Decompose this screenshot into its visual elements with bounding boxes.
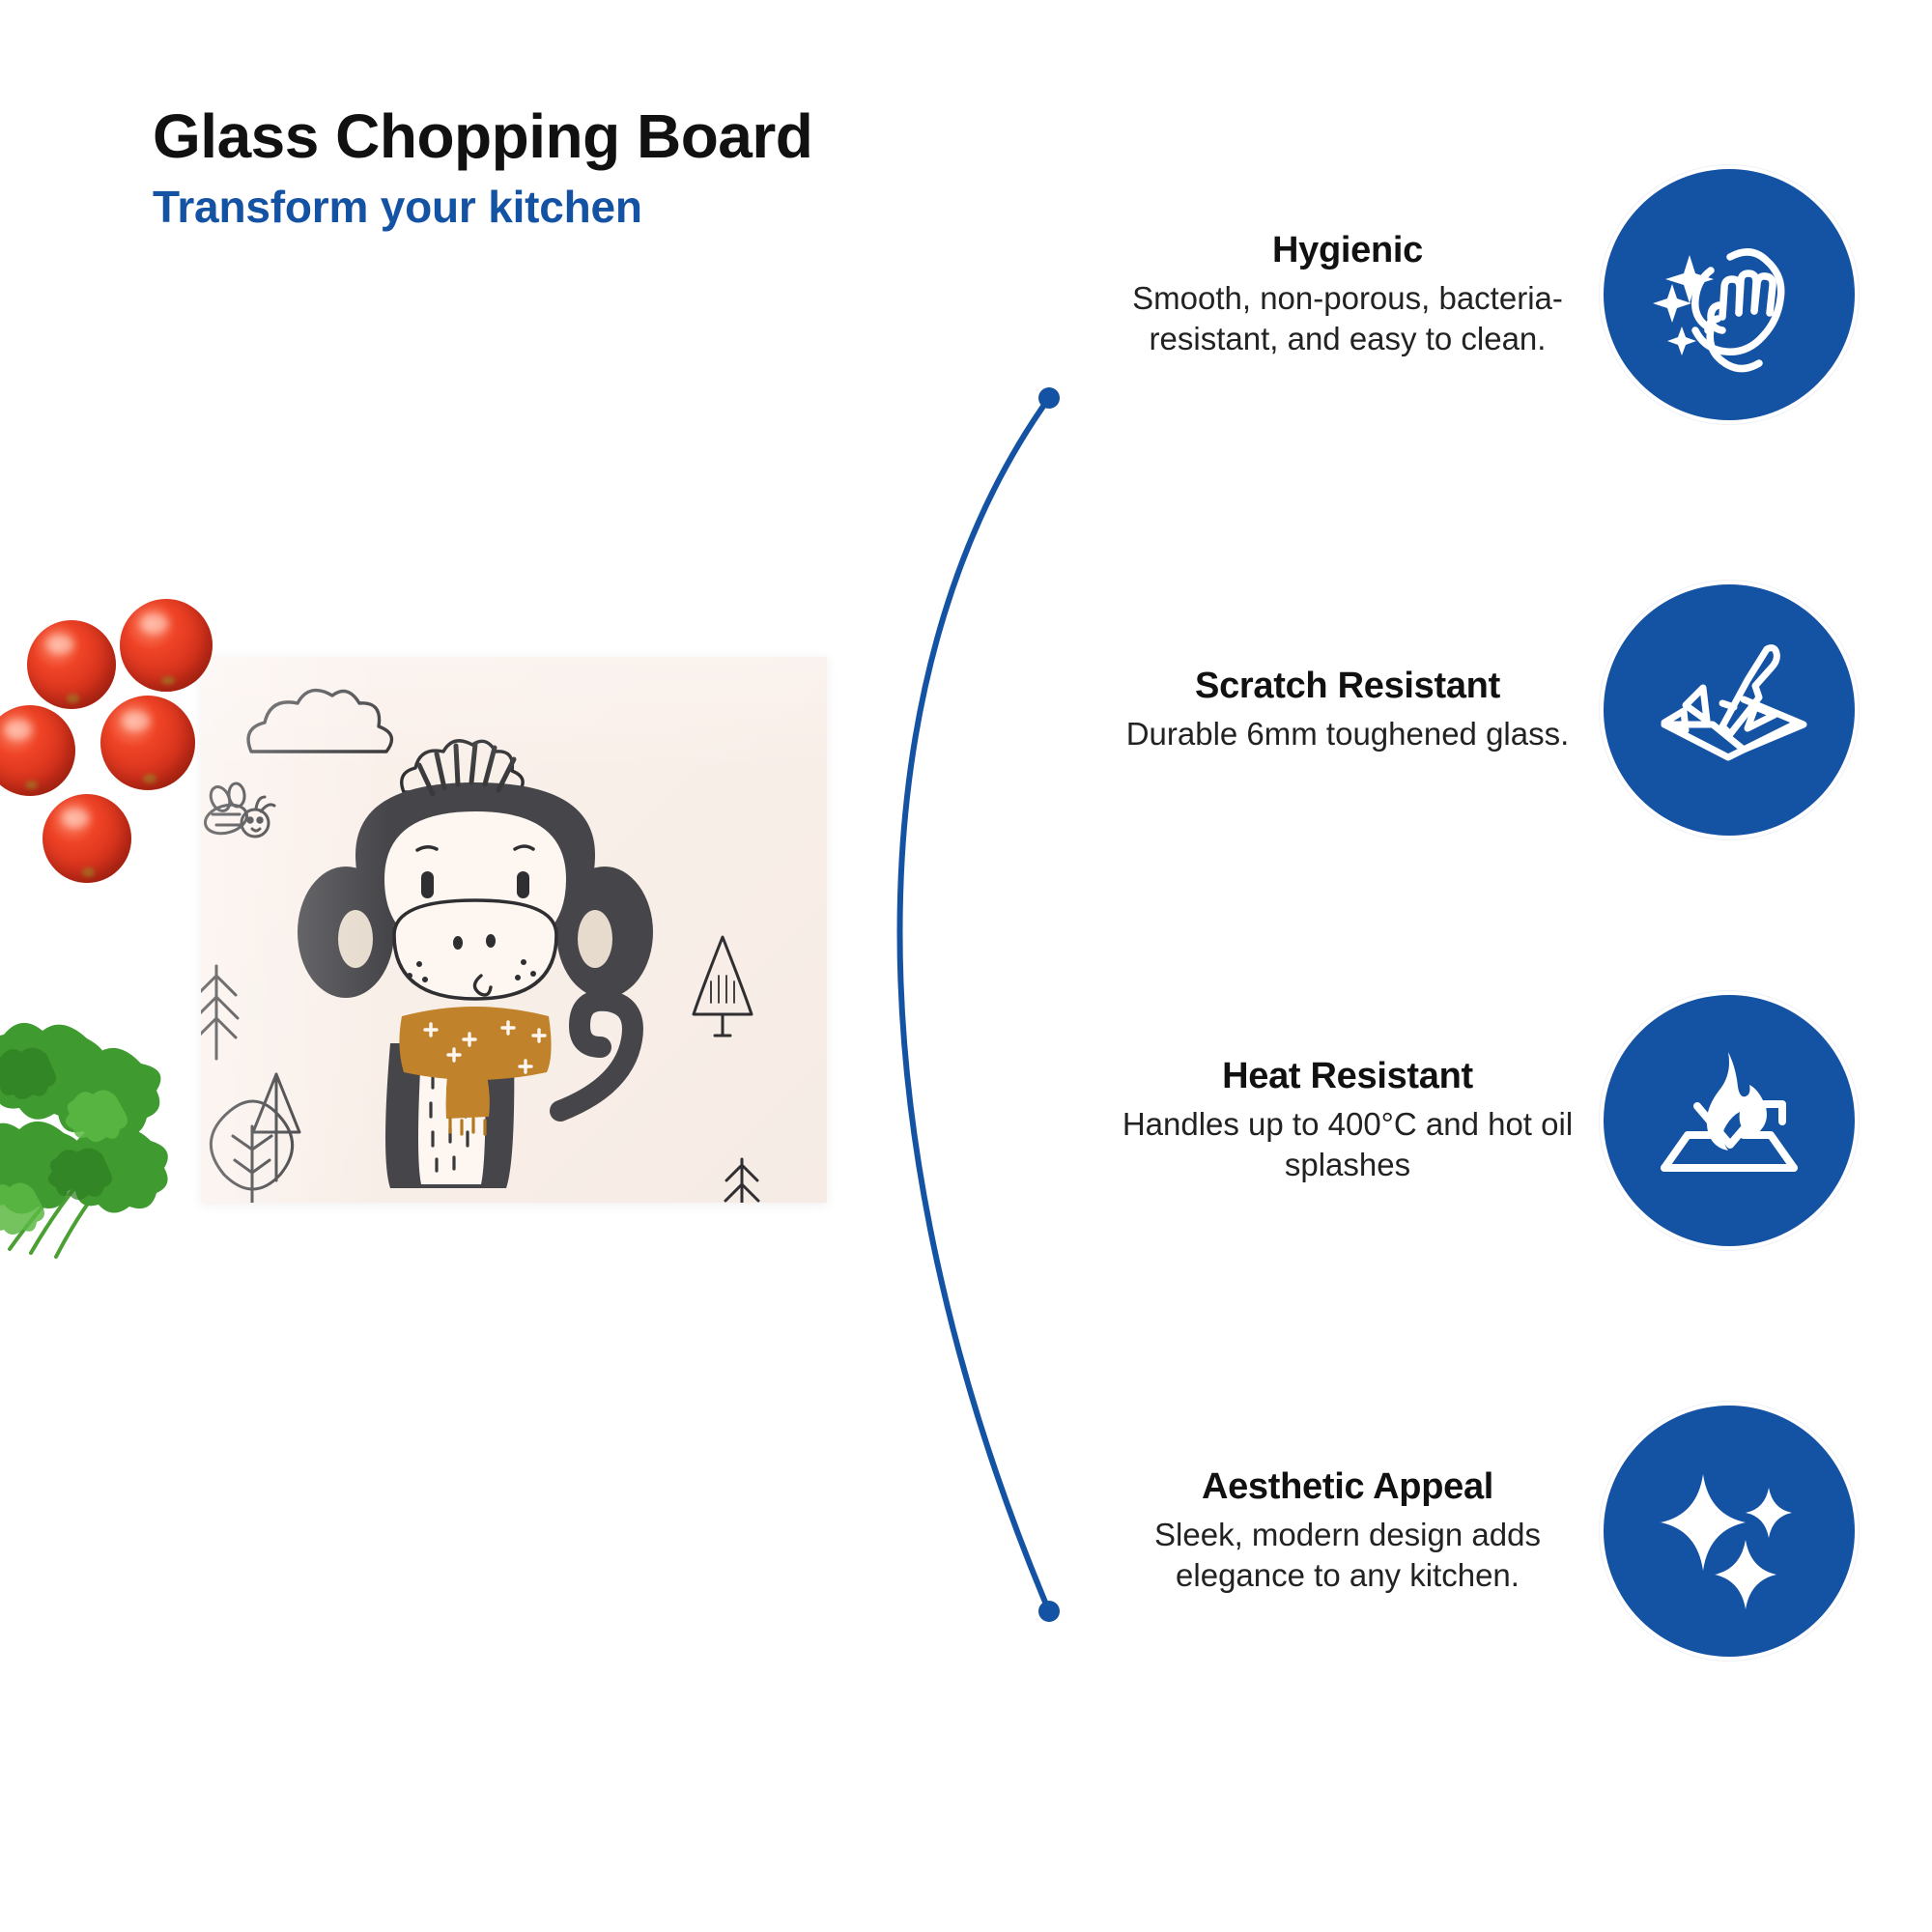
feature-description: Smooth, non-porous, bacteria-resistant, … [1121,278,1575,359]
cherry-tomato [43,794,131,883]
product-photo [0,599,850,1294]
feature-description: Durable 6mm toughened glass. [1121,714,1575,754]
cherry-tomato [27,620,116,709]
board-artwork [201,657,827,1203]
feature-text: Aesthetic Appeal Sleek, modern design ad… [1121,1466,1604,1596]
glass-chopping-board [201,657,827,1203]
knife-scratch-surface-icon[interactable] [1604,584,1855,836]
feature-title: Heat Resistant [1121,1056,1575,1098]
feature-title: Aesthetic Appeal [1121,1466,1575,1509]
hand-wipe-sparkle-icon[interactable] [1604,169,1855,420]
feature-description: Handles up to 400°C and hot oil splashes [1121,1104,1575,1185]
feature-aesthetic-appeal[interactable]: Aesthetic Appeal Sleek, modern design ad… [1024,1406,1855,1657]
feature-hygienic[interactable]: Hygienic Smooth, non-porous, bacteria-re… [1024,169,1855,420]
feature-text: Scratch Resistant Durable 6mm toughened … [1121,666,1604,754]
cherry-tomato [0,705,75,796]
sparkles-icon[interactable] [1604,1406,1855,1657]
feature-title: Hygienic [1121,230,1575,272]
page-title: Glass Chopping Board [153,104,1119,169]
feature-scratch-resistant[interactable]: Scratch Resistant Durable 6mm toughened … [1024,584,1855,836]
feature-title: Scratch Resistant [1121,666,1575,708]
cherry-tomato [100,696,195,790]
monkey-illustration [298,744,653,1188]
cherry-tomato [120,599,213,692]
feature-text: Heat Resistant Handles up to 400°C and h… [1121,1056,1604,1185]
page-subtitle: Transform your kitchen [153,183,1119,232]
parsley-bunch [0,971,213,1261]
header: Glass Chopping Board Transform your kitc… [153,104,1119,232]
flame-deflect-icon[interactable] [1604,995,1855,1246]
feature-text: Hygienic Smooth, non-porous, bacteria-re… [1121,230,1604,359]
feature-description: Sleek, modern design adds elegance to an… [1121,1515,1575,1596]
feature-heat-resistant[interactable]: Heat Resistant Handles up to 400°C and h… [1024,995,1855,1246]
